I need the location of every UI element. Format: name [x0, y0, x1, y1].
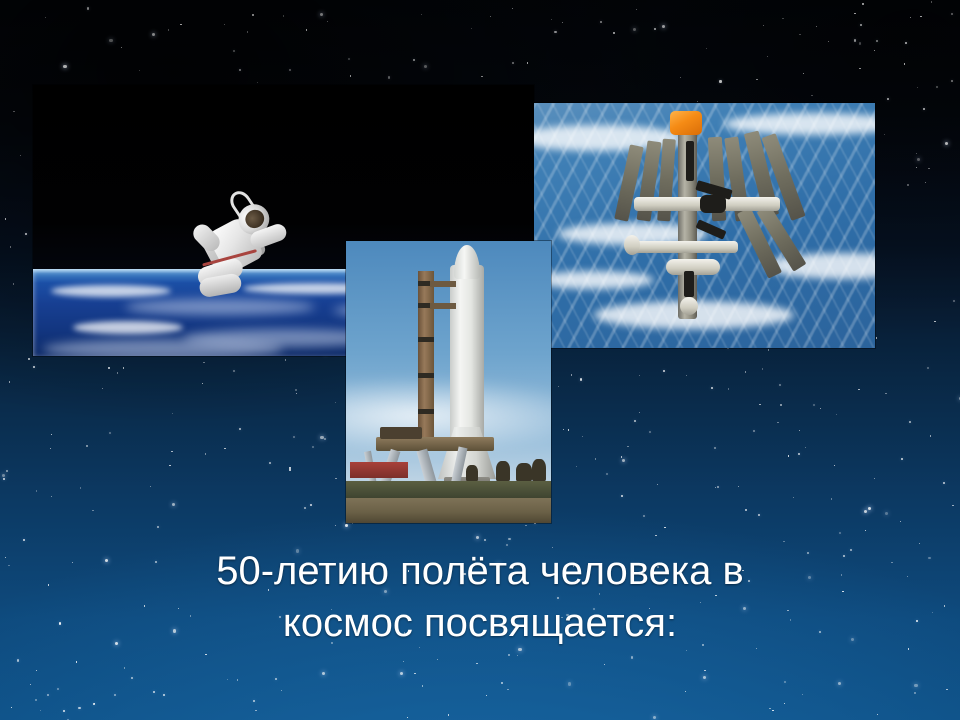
cloud [51, 285, 171, 297]
cloud [73, 321, 183, 334]
rocket-monument-photo [346, 241, 551, 523]
tree [516, 463, 532, 481]
gantry-band [418, 409, 434, 414]
slide-headline: 50-летию полёта человека в космос посвящ… [0, 545, 960, 649]
launch-gantry-tower [418, 271, 434, 441]
red-building [350, 462, 408, 478]
end-cap [624, 235, 640, 255]
tree [496, 461, 510, 481]
platform-machinery [380, 427, 422, 439]
equipment-box [700, 195, 726, 213]
orange-module [670, 111, 702, 135]
docking-port [680, 297, 698, 315]
gantry-crossbeam [430, 281, 456, 287]
tree [466, 465, 478, 481]
gantry-band [418, 373, 434, 378]
grass-strip [346, 481, 551, 498]
tree [532, 459, 546, 481]
horizontal-module [626, 241, 738, 253]
space-station-figure [626, 111, 826, 331]
truss-segment [686, 141, 694, 181]
cloud [43, 339, 283, 356]
gantry-band [418, 337, 434, 342]
ground-strip [346, 498, 551, 523]
rocket-nose-cone [454, 245, 480, 279]
gantry-crossbeam [430, 303, 456, 309]
presentation-slide: 50-летию полёта человека в космос посвящ… [0, 0, 960, 720]
iss-photo [534, 103, 875, 348]
radiator-arm [695, 219, 726, 239]
truss-segment [684, 271, 694, 297]
